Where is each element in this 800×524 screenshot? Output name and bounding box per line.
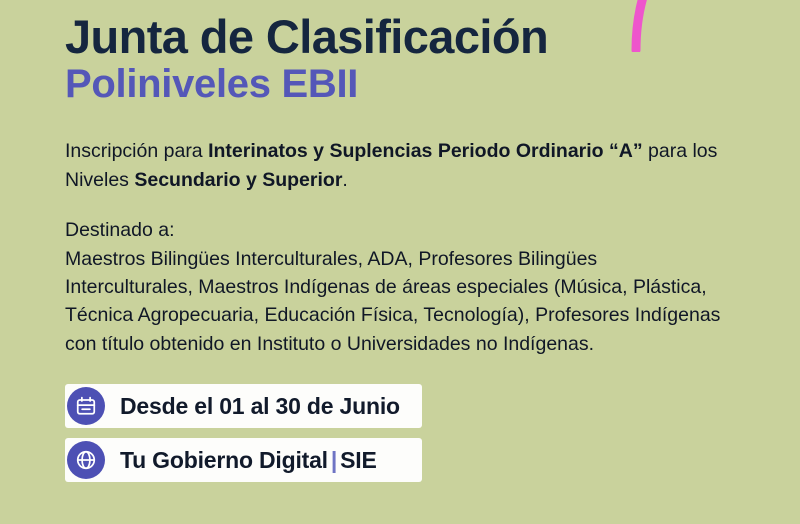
poster-content: Junta de Clasificación Poliniveles EBII …: [65, 0, 765, 492]
inscription-bold-2: Secundario y Superior: [134, 169, 342, 191]
info-pill-list: Desde el 01 al 30 de Junio Tu Gobierno D…: [65, 384, 765, 482]
calendar-icon: [67, 387, 105, 425]
inscription-bold-1: Interinatos y Suplencias Periodo Ordinar…: [208, 140, 643, 162]
inscription-text-3: .: [342, 169, 347, 191]
inscription-paragraph: Inscripción para Interinatos y Suplencia…: [65, 137, 725, 194]
pill-platform[interactable]: Tu Gobierno Digital|SIE: [65, 438, 422, 482]
globe-icon: [67, 441, 105, 479]
title-line-primary: Junta de Clasificación: [65, 13, 765, 61]
pill-date-range[interactable]: Desde el 01 al 30 de Junio: [65, 384, 422, 428]
pill-platform-separator: |: [328, 447, 340, 473]
audience-body: Maestros Bilingües Interculturales, ADA,…: [65, 245, 725, 359]
poster-canvas: Junta de Clasificación Poliniveles EBII …: [0, 0, 800, 524]
inscription-text-1: Inscripción para: [65, 140, 208, 162]
audience-label: Destinado a:: [65, 216, 725, 244]
pill-platform-label: Tu Gobierno Digital|SIE: [120, 447, 377, 474]
pill-date-range-label: Desde el 01 al 30 de Junio: [120, 393, 400, 420]
audience-paragraph: Destinado a: Maestros Bilingües Intercul…: [65, 216, 725, 358]
pill-platform-label-part1: Tu Gobierno Digital: [120, 447, 328, 473]
page-title: Junta de Clasificación Poliniveles EBII: [65, 0, 765, 106]
title-line-secondary: Poliniveles EBII: [65, 63, 765, 106]
pill-platform-label-part2: SIE: [340, 447, 376, 473]
